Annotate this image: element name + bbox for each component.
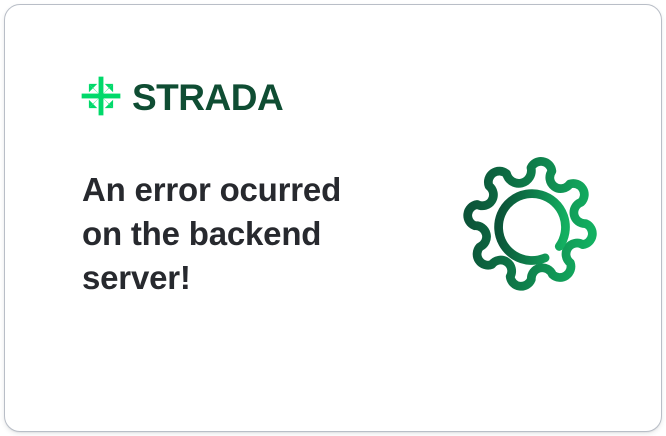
screen: STRADA An error ocurred on the backend s…: [0, 0, 666, 436]
error-message: An error ocurred on the backend server!: [82, 168, 382, 300]
strada-asterisk-icon: [79, 74, 123, 118]
error-message-line: server!: [82, 256, 382, 300]
gear-icon: [455, 151, 607, 303]
brand-wordmark: STRADA: [132, 79, 283, 116]
brand-logo: STRADA: [79, 73, 283, 119]
error-message-line: An error ocurred: [82, 168, 382, 212]
error-card: STRADA An error ocurred on the backend s…: [4, 4, 662, 432]
error-message-line: on the backend: [82, 212, 382, 256]
error-illustration: [455, 151, 607, 303]
